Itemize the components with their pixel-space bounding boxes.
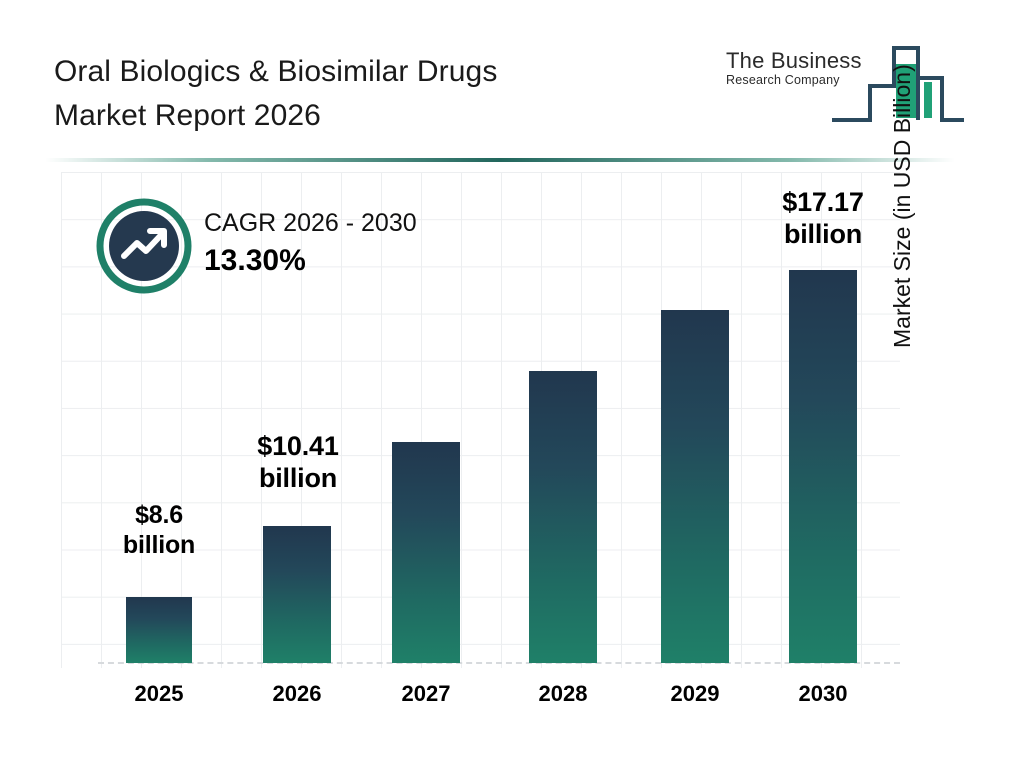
bar-2030[interactable] bbox=[789, 270, 857, 663]
cagr-value: 13.30% bbox=[204, 242, 417, 280]
bar-2027[interactable] bbox=[392, 442, 460, 663]
bar-label-2025: $8.6 billion bbox=[69, 500, 249, 560]
xtick-2027: 2027 bbox=[376, 681, 476, 707]
trend-up-arrow-icon bbox=[96, 198, 192, 294]
bar-chart: $8.6 billion $10.41 billion $17.17 billi… bbox=[0, 0, 1024, 768]
chart-bars: $8.6 billion $10.41 billion $17.17 billi… bbox=[0, 0, 1024, 768]
bar-2025[interactable] bbox=[126, 597, 192, 663]
xtick-2026: 2026 bbox=[247, 681, 347, 707]
bar-label-2026: $10.41 billion bbox=[203, 430, 393, 494]
xtick-2029: 2029 bbox=[645, 681, 745, 707]
bar-2029[interactable] bbox=[661, 310, 729, 663]
cagr-text-block: CAGR 2026 - 2030 13.30% bbox=[204, 206, 417, 280]
cagr-badge: CAGR 2026 - 2030 13.30% bbox=[96, 198, 496, 308]
bar-2028[interactable] bbox=[529, 371, 597, 663]
xtick-2030: 2030 bbox=[773, 681, 873, 707]
bar-label-2030: $17.17 billion bbox=[733, 186, 913, 250]
cagr-period-label: CAGR 2026 - 2030 bbox=[204, 206, 417, 240]
xtick-2028: 2028 bbox=[513, 681, 613, 707]
y-axis-label: Market Size (in USD Billion) bbox=[889, 0, 916, 348]
bar-2026[interactable] bbox=[263, 526, 331, 663]
xtick-2025: 2025 bbox=[109, 681, 209, 707]
